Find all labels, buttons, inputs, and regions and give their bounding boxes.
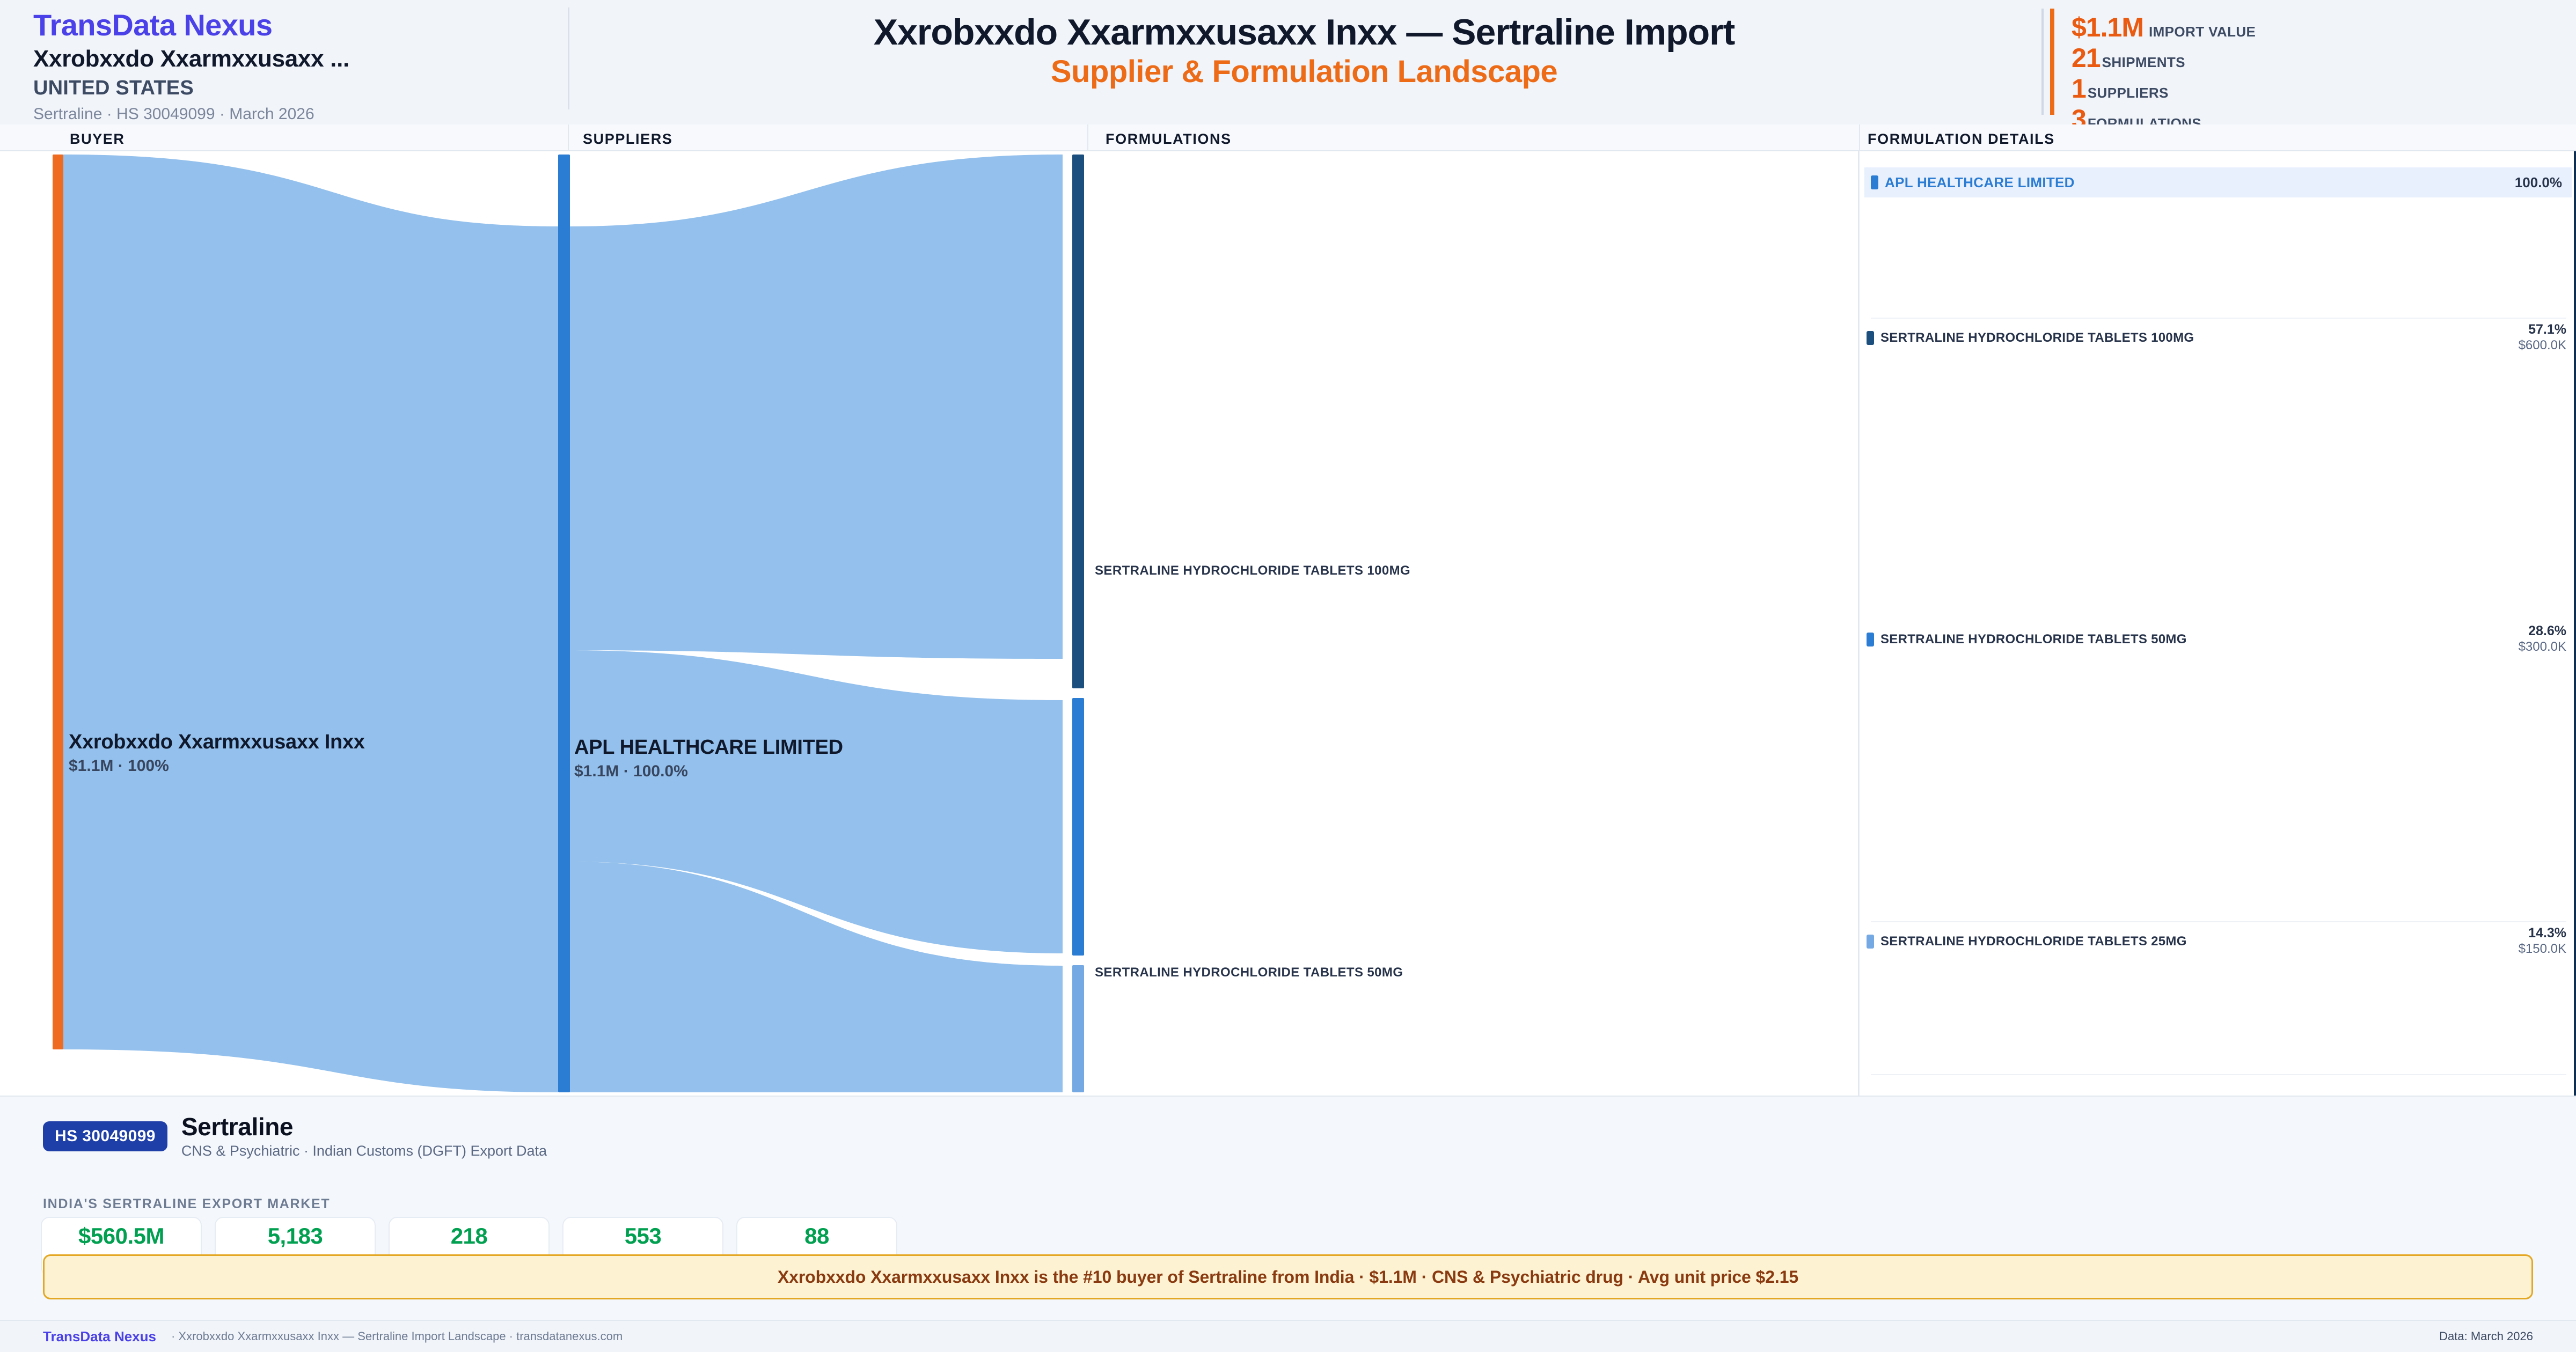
panel-right-rule	[2574, 151, 2576, 1096]
column-header-strip: BUYER SUPPLIERS FORMULATIONS FORMULATION…	[0, 124, 2576, 151]
footer-data-date: Data: March 2026	[2439, 1329, 2533, 1343]
kpi-shipments: 21 SHIPMENTS	[2072, 45, 2576, 71]
details-formulation-pct: 57.1%	[2519, 322, 2566, 337]
formulation-details-panel: APL HEALTHCARE LIMITED 100.0% SERTRALINE…	[1860, 151, 2576, 1096]
details-formulation-row[interactable]: SERTRALINE HYDROCHLORIDE TABLETS 25MG 14…	[1860, 931, 2576, 952]
page-title: Xxrobxxdo Xxarmxxusaxx Inxx — Sertraline…	[569, 12, 2039, 53]
title-block: Xxrobxxdo Xxarmxxusaxx Inxx — Sertraline…	[569, 0, 2039, 90]
details-formulation-row[interactable]: SERTRALINE HYDROCHLORIDE TABLETS 50MG 28…	[1860, 629, 2576, 650]
sankey-node-buyer[interactable]	[53, 155, 63, 1049]
brand-block: TransData Nexus Xxrobxxdo Xxarmxxusaxx .…	[0, 0, 569, 122]
sankey-svg	[0, 151, 1858, 1096]
sankey-formulation-label-50mg: SERTRALINE HYDROCHLORIDE TABLETS 50MG	[1095, 965, 1403, 980]
details-supplier-pct-wrap: 100.0%	[2515, 174, 2562, 191]
hs-product-meta: CNS & Psychiatric · Indian Customs (DGFT…	[181, 1143, 547, 1159]
details-divider	[1871, 1074, 2566, 1075]
details-formulation-metrics: 28.6% $300.0K	[2519, 624, 2566, 655]
formulation-color-swatch	[1867, 331, 1874, 345]
kpi-label: SHIPMENTS	[2102, 54, 2185, 71]
kpi-rule-secondary	[2041, 9, 2044, 115]
market-section-label: INDIA'S SERTRALINE EXPORT MARKET	[43, 1196, 330, 1212]
sankey-node-formulation-25mg[interactable]	[1072, 965, 1084, 1092]
column-separator	[1859, 124, 1860, 151]
header-divider	[568, 8, 569, 109]
kpi-label: SUPPLIERS	[2088, 85, 2169, 101]
formulation-color-swatch	[1867, 935, 1874, 949]
brand-name: TransData Nexus	[33, 10, 569, 41]
details-formulation-name: SERTRALINE HYDROCHLORIDE TABLETS 100MG	[1880, 330, 2194, 346]
details-supplier-name: APL HEALTHCARE LIMITED	[1885, 174, 2075, 191]
details-formulation-value: $300.0K	[2519, 639, 2566, 655]
sankey-formulation-label-100mg: SERTRALINE HYDROCHLORIDE TABLETS 100MG	[1095, 563, 1410, 578]
details-formulation-value: $600.0K	[2519, 337, 2566, 354]
supplier-color-swatch	[1871, 175, 1878, 189]
sankey-node-formulation-100mg[interactable]	[1072, 155, 1084, 688]
kpi-block: $1.1M IMPORT VALUE 21 SHIPMENTS 1 SUPPLI…	[2039, 0, 2576, 136]
hs-code-row: HS 30049099 Sertraline CNS & Psychiatric…	[43, 1114, 547, 1159]
details-formulation-pct: 14.3%	[2519, 926, 2566, 941]
kpi-suppliers: 1 SUPPLIERS	[2072, 75, 2576, 102]
column-separator	[1087, 124, 1088, 151]
column-header-suppliers: SUPPLIERS	[583, 131, 672, 148]
details-supplier-row[interactable]: APL HEALTHCARE LIMITED 100.0%	[1864, 167, 2572, 197]
sankey-diagram: Xxrobxxdo Xxarmxxusaxx Inxx $1.1M · 100%…	[0, 151, 1859, 1096]
kpi-rule-accent	[2050, 9, 2054, 115]
column-header-buyer: BUYER	[70, 131, 125, 148]
details-formulation-row[interactable]: SERTRALINE HYDROCHLORIDE TABLETS 100MG 5…	[1860, 327, 2576, 349]
column-header-details: FORMULATION DETAILS	[1868, 131, 2055, 148]
stat-value: 88	[804, 1225, 829, 1247]
details-supplier-pct: 100.0%	[2515, 174, 2562, 190]
footer-brand: TransData Nexus	[43, 1328, 156, 1345]
stat-value: 553	[625, 1225, 662, 1247]
sankey-node-formulation-50mg[interactable]	[1072, 698, 1084, 956]
hs-text: Sertraline CNS & Psychiatric · Indian Cu…	[181, 1114, 547, 1159]
sankey-node-supplier[interactable]	[558, 155, 570, 1092]
kpi-import-value: $1.1M IMPORT VALUE	[2072, 14, 2576, 41]
footer-meta: · Xxrobxxdo Xxarmxxusaxx Inxx — Sertrali…	[171, 1329, 623, 1343]
details-formulation-pct: 28.6%	[2519, 624, 2566, 639]
details-formulation-value: $150.0K	[2519, 941, 2566, 957]
details-divider	[1871, 318, 2566, 319]
brand-meta: Sertraline · HS 30049099 · March 2026	[33, 106, 569, 123]
sankey-link-buyer-supplier[interactable]	[63, 155, 558, 1092]
footer: TransData Nexus · Xxrobxxdo Xxarmxxusaxx…	[0, 1320, 2576, 1352]
sankey-link-supplier-f100[interactable]	[569, 155, 1063, 659]
kpi-value: 1	[2072, 75, 2086, 102]
details-formulation-metrics: 57.1% $600.0K	[2519, 322, 2566, 354]
callout-banner: Xxrobxxdo Xxarmxxusaxx Inxx is the #10 b…	[43, 1254, 2533, 1299]
kpi-value: 21	[2072, 45, 2101, 71]
kpi-label: IMPORT VALUE	[2149, 24, 2256, 40]
stat-value: 5,183	[268, 1225, 323, 1247]
callout-text: Xxrobxxdo Xxarmxxusaxx Inxx is the #10 b…	[778, 1267, 1798, 1287]
header: TransData Nexus Xxrobxxdo Xxarmxxusaxx .…	[0, 0, 2576, 124]
details-formulation-metrics: 14.3% $150.0K	[2519, 926, 2566, 957]
kpi-value: $1.1M	[2072, 14, 2143, 41]
column-separator	[568, 124, 569, 151]
brand-country: UNITED STATES	[33, 78, 569, 99]
brand-company: Xxrobxxdo Xxarmxxusaxx ...	[33, 47, 569, 71]
stat-value: 218	[451, 1225, 488, 1247]
details-formulation-name: SERTRALINE HYDROCHLORIDE TABLETS 25MG	[1880, 934, 2187, 949]
dashboard-page: TransData Nexus Xxrobxxdo Xxarmxxusaxx .…	[0, 0, 2576, 1352]
details-formulation-name: SERTRALINE HYDROCHLORIDE TABLETS 50MG	[1880, 632, 2187, 647]
hs-product-name: Sertraline	[181, 1114, 547, 1140]
hs-code-badge: HS 30049099	[43, 1121, 167, 1151]
page-subtitle: Supplier & Formulation Landscape	[569, 55, 2039, 90]
formulation-color-swatch	[1867, 633, 1874, 646]
column-header-formulations: FORMULATIONS	[1106, 131, 1232, 148]
details-divider	[1871, 921, 2566, 922]
stat-value: $560.5M	[78, 1225, 164, 1247]
